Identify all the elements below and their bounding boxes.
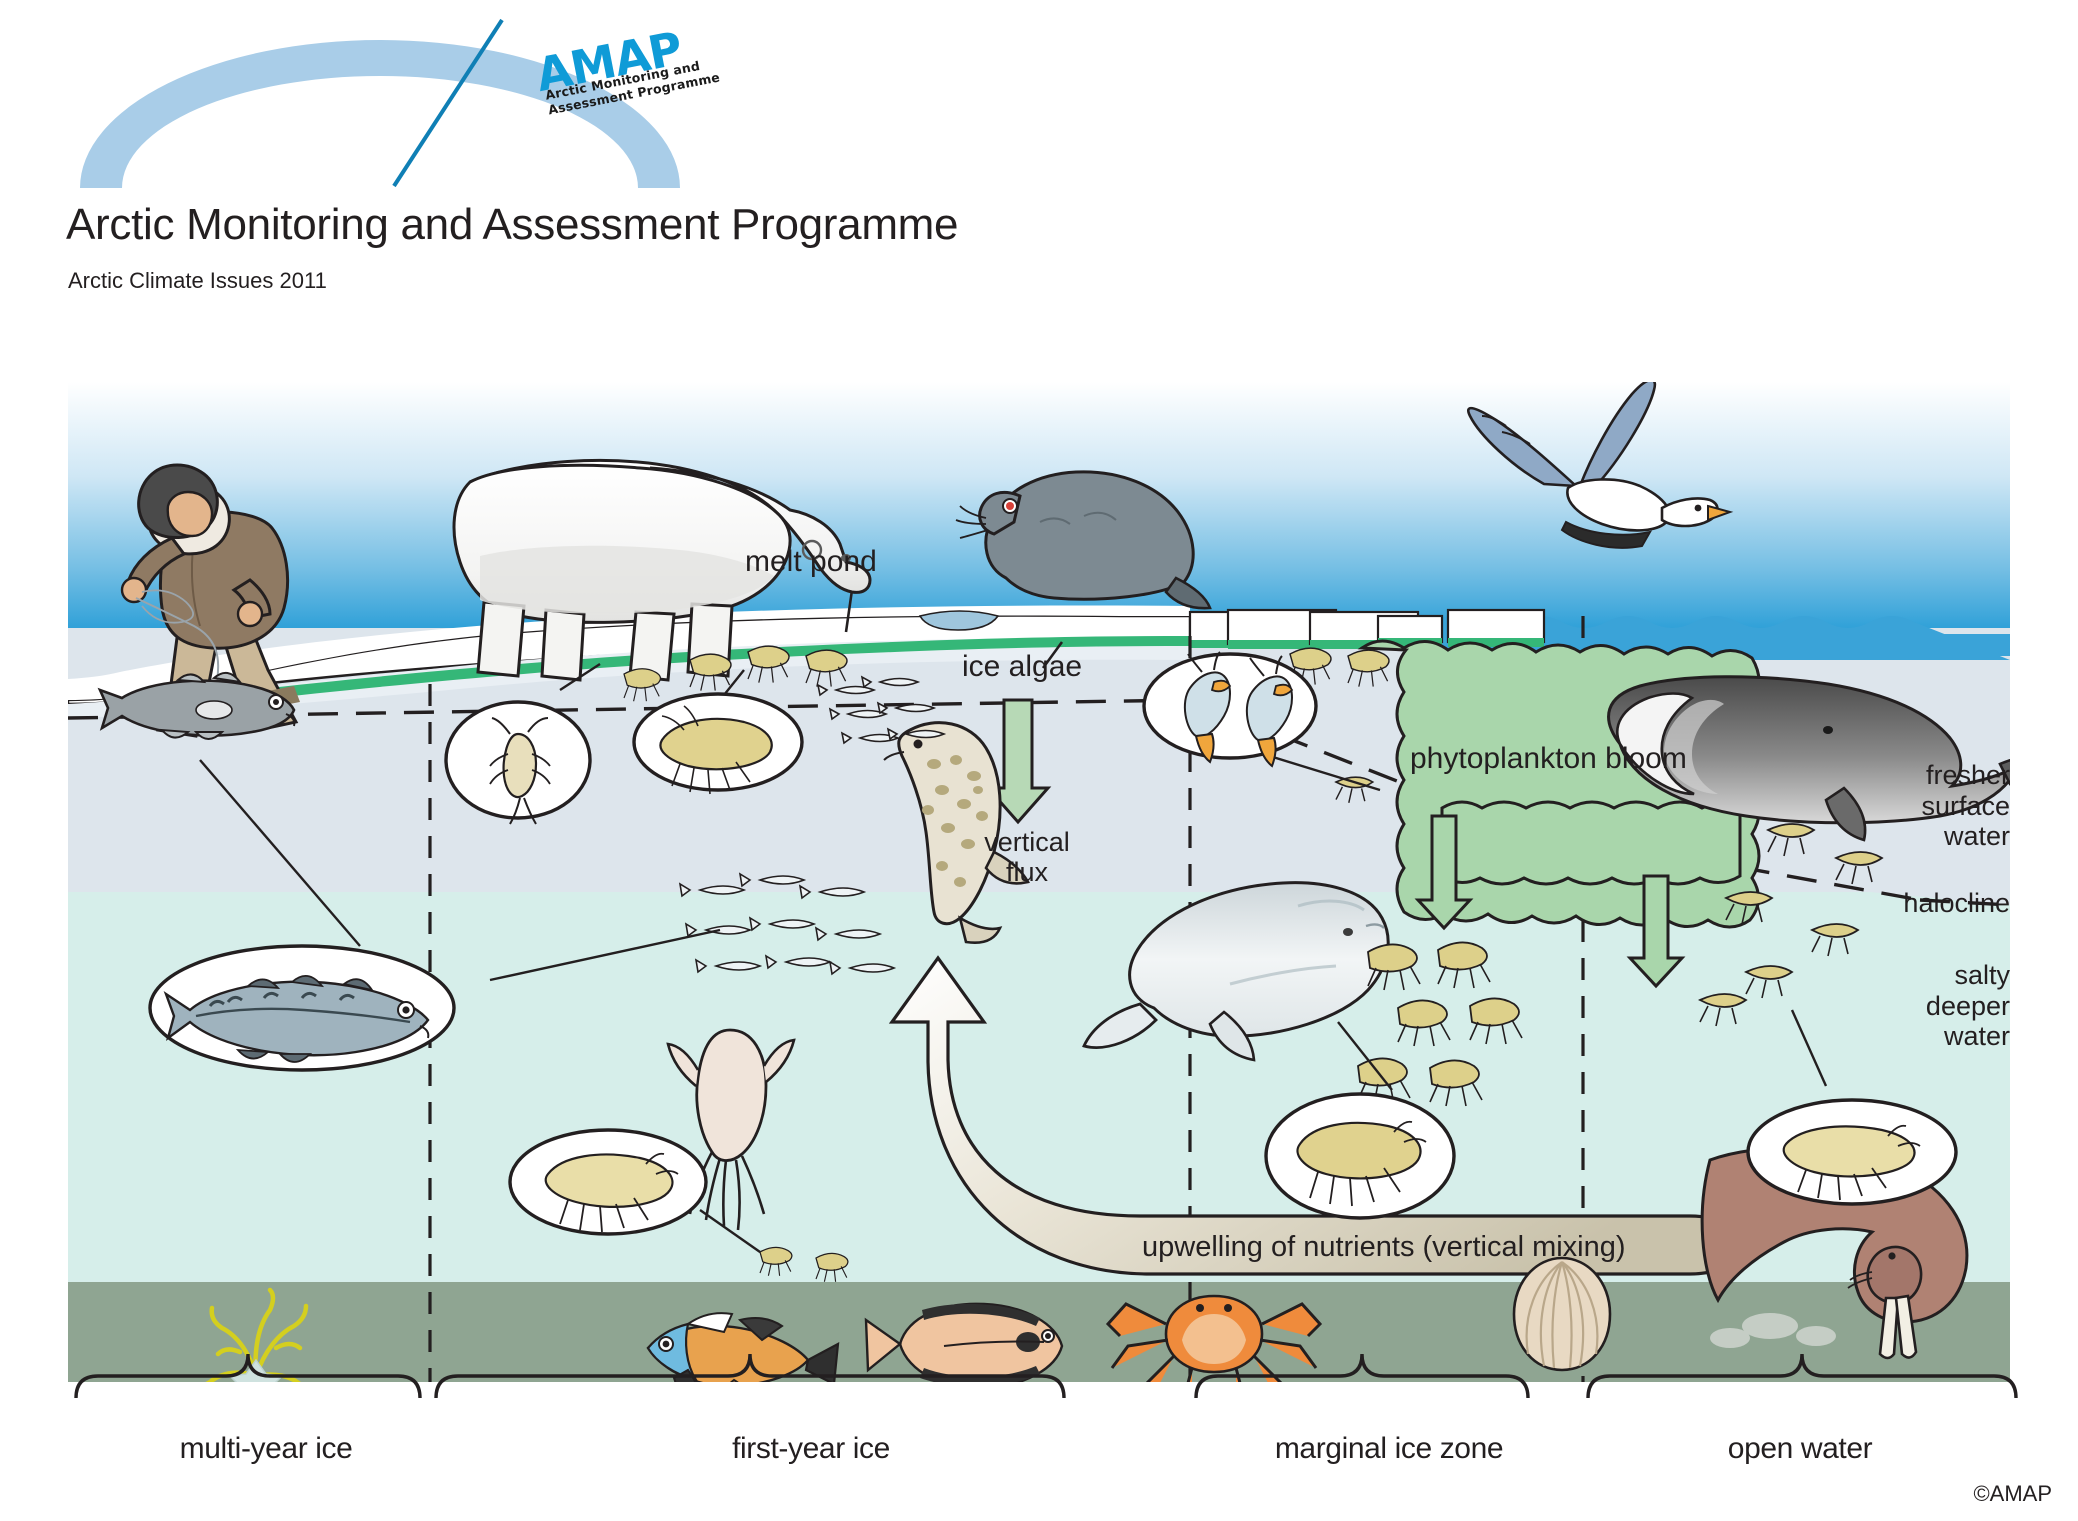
ice-floes — [1190, 610, 1544, 649]
vertical-flux-line2: flux — [952, 858, 1102, 888]
vertical-flux-label: vertical flux — [952, 828, 1102, 887]
arctic-ecosystem-diagram — [0, 0, 2078, 1521]
fresher-surface-water-label: fresher surface water — [1850, 760, 2010, 852]
zone-label-multi-year-ice: multi-year ice — [76, 1432, 456, 1466]
zone-label-open-water: open water — [1588, 1432, 2012, 1466]
salty-line2: deeper — [1840, 991, 2010, 1022]
fresher-line2: surface — [1850, 791, 2010, 822]
fresher-line3: water — [1850, 821, 2010, 852]
ice-algae-label: ice algae — [962, 650, 1082, 684]
upwelling-label: upwelling of nutrients (vertical mixing) — [1142, 1231, 1626, 1264]
salty-line3: water — [1840, 1021, 2010, 1052]
vertical-flux-line1: vertical — [952, 828, 1102, 858]
salty-deeper-water-label: salty deeper water — [1840, 960, 2010, 1052]
halocline-label: halocline — [1820, 888, 2010, 919]
fresher-line1: fresher — [1850, 760, 2010, 791]
phytoplankton-bloom-label: phytoplankton bloom — [1410, 742, 1687, 776]
salty-line1: salty — [1840, 960, 2010, 991]
copyright-credit: ©AMAP — [1973, 1481, 2052, 1507]
melt-pond-label: melt pond — [745, 545, 877, 579]
clam — [1514, 1258, 1610, 1370]
zone-label-first-year-ice: first-year ice — [436, 1432, 1186, 1466]
zone-label-marginal-ice-zone: marginal ice zone — [1196, 1432, 1582, 1466]
